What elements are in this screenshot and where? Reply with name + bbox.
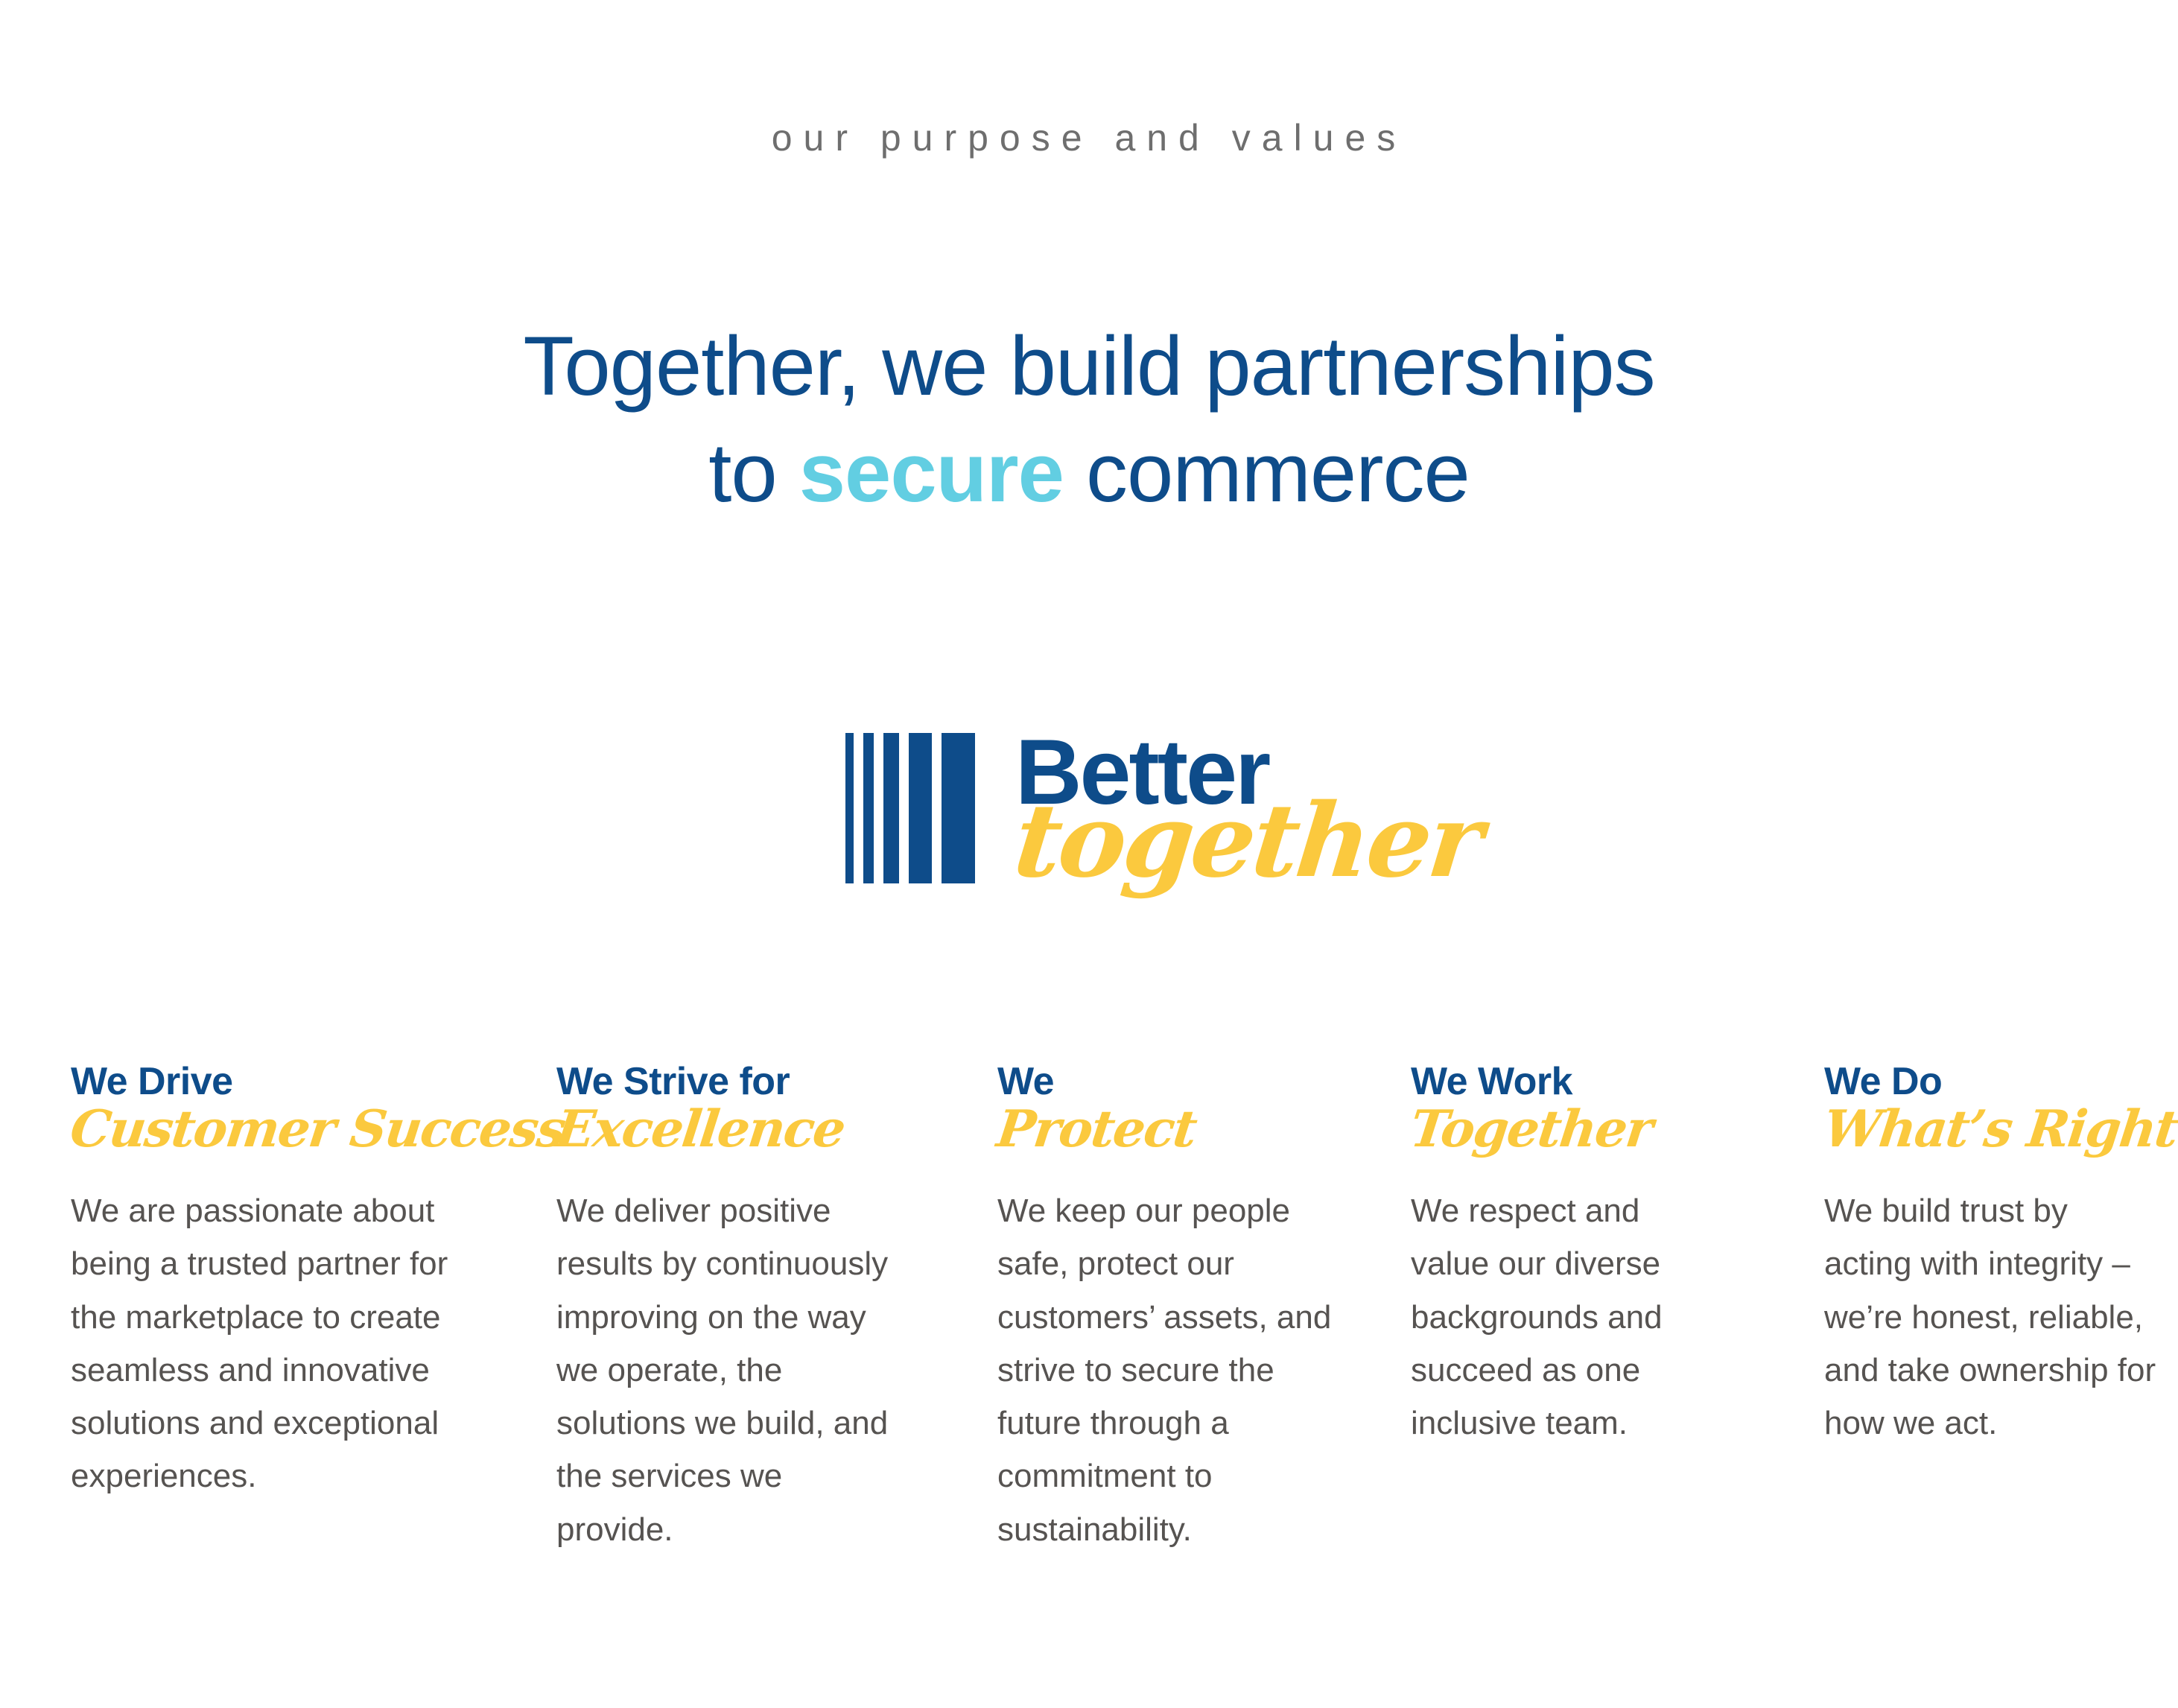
value-script-title: Together: [1408, 1104, 1727, 1155]
headline-line-2: to secure commerce: [0, 419, 2178, 526]
value-body-text: We build trust by acting with integrity …: [1824, 1184, 2159, 1450]
value-prefix: We Work: [1411, 1061, 1724, 1102]
value-body-text: We respect and value our diverse backgro…: [1411, 1184, 1724, 1450]
logo-bar-5: [942, 733, 975, 883]
value-prefix: We Strive for: [556, 1061, 907, 1102]
logo-bar-4: [909, 733, 932, 883]
value-column-customer-success: We Drive Customer Success We are passion…: [71, 1061, 458, 1503]
value-script-title: What’s Right: [1821, 1104, 2162, 1155]
value-column-protect: We Protect We keep our people safe, prot…: [997, 1061, 1347, 1556]
value-script-title: Protect: [994, 1104, 1350, 1155]
headline-line-1: Together, we build partnerships: [0, 313, 2178, 419]
value-column-whats-right: We Do What’s Right We build trust by act…: [1824, 1061, 2159, 1450]
logo-word-together: together: [1010, 790, 1485, 892]
value-prefix: We Do: [1824, 1061, 2159, 1102]
headline-line-2-after: commerce: [1064, 426, 1470, 519]
value-body-text: We deliver positive results by continuou…: [556, 1184, 907, 1556]
page-eyebrow: our purpose and values: [0, 116, 2178, 159]
value-script-title: Customer Success: [68, 1104, 461, 1155]
value-script-title: Excellence: [553, 1104, 909, 1155]
logo-bar-3: [883, 733, 899, 883]
headline-accent-secure: secure: [799, 426, 1064, 519]
value-column-excellence: We Strive for Excellence We deliver posi…: [556, 1061, 907, 1556]
value-body-text: We are passionate about being a trusted …: [71, 1184, 458, 1503]
logo-bar-2: [863, 733, 874, 883]
better-together-logo: Better together: [845, 726, 1471, 965]
page-headline: Together, we build partnerships to secur…: [0, 313, 2178, 527]
logo-bars-icon: [845, 733, 975, 883]
value-body-text: We keep our people safe, protect our cus…: [997, 1184, 1347, 1556]
value-prefix: We: [997, 1061, 1347, 1102]
headline-line-2-before: to: [708, 426, 799, 519]
value-prefix: We Drive: [71, 1061, 458, 1102]
value-column-together: We Work Together We respect and value ou…: [1411, 1061, 1724, 1450]
values-row: We Drive Customer Success We are passion…: [0, 1061, 2178, 1627]
logo-bar-1: [845, 733, 854, 883]
